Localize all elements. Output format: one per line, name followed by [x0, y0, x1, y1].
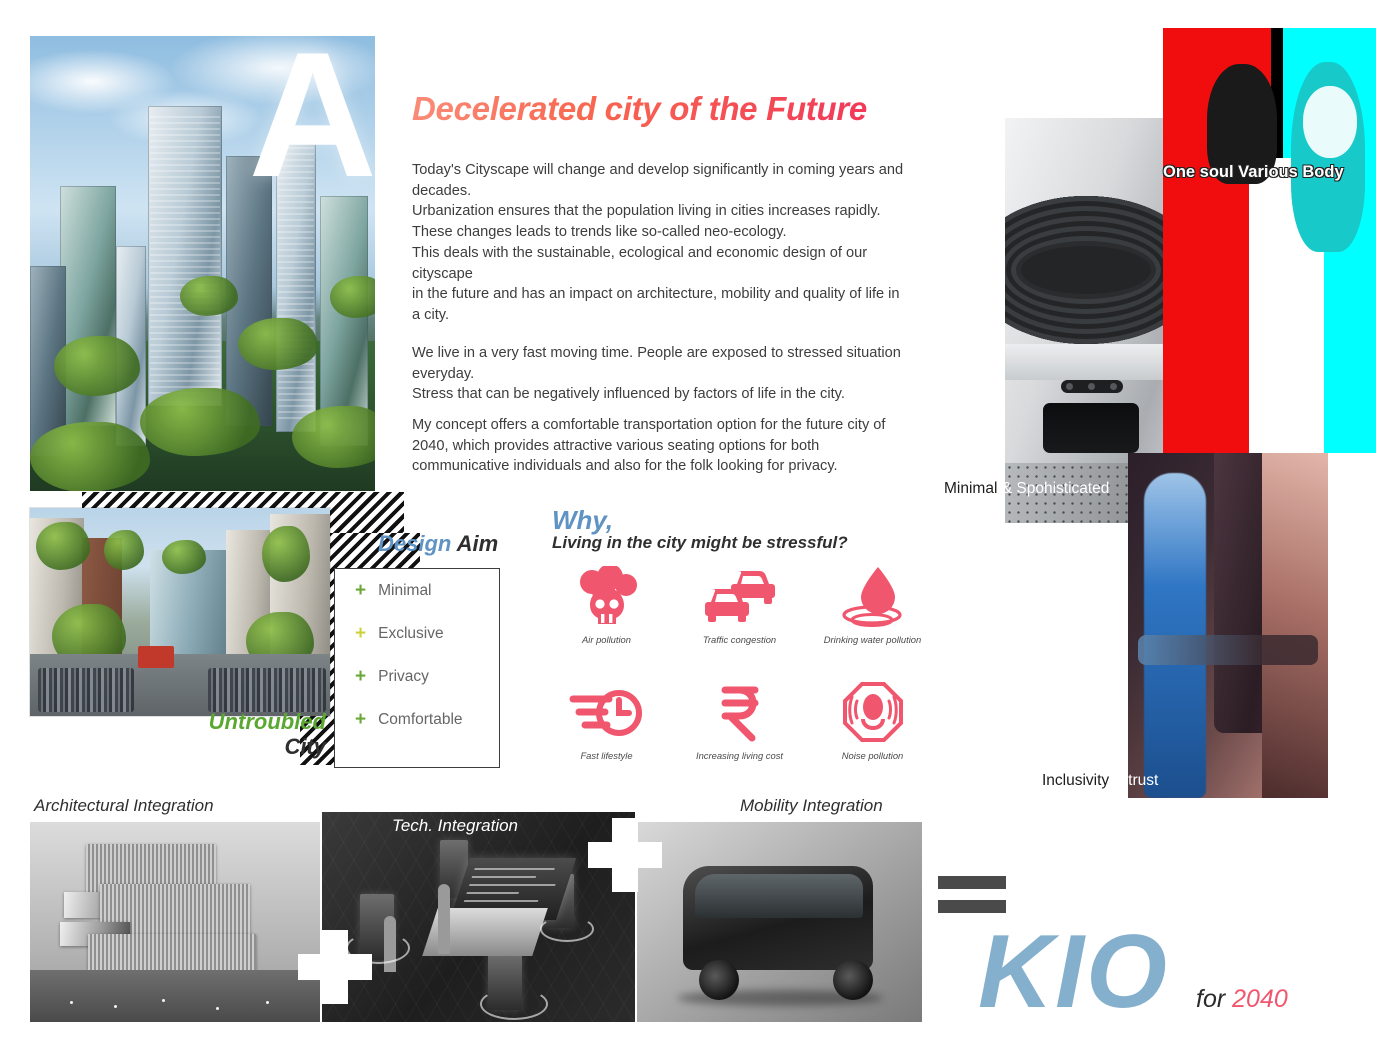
fast-lifestyle-icon: [567, 681, 647, 743]
pedestrian-crowd: [38, 668, 134, 712]
plus-symbol-2: [588, 818, 662, 892]
list-item-label: Privacy: [378, 668, 429, 686]
why-heading: Why,: [552, 505, 613, 536]
device-sensor-strip: [1061, 380, 1123, 393]
plus-icon: +: [355, 581, 366, 600]
vegetation: [104, 530, 144, 570]
plus-symbol-1: [298, 930, 372, 1004]
vegetation: [36, 522, 90, 570]
list-item[interactable]: + Minimal: [335, 569, 499, 612]
device-band: [1005, 344, 1175, 380]
minimal-sophisticated-label: Minimal & Spohisticated: [944, 480, 1109, 498]
vegetation: [30, 422, 150, 491]
untroubled-city-label: Untroubled City: [150, 710, 326, 759]
device-screen: [1043, 403, 1139, 453]
brand-name-kio: KIO: [978, 920, 1169, 1024]
list-item[interactable]: + Exclusive: [335, 612, 499, 655]
stress-factor-row: Fast lifestyle Increasing living cost: [540, 681, 940, 761]
icon-caption: Increasing living cost: [696, 750, 783, 761]
stress-factor-item[interactable]: Drinking water pollution: [806, 565, 939, 645]
stress-factor-row: Air pollution Traffic congestion: [540, 565, 940, 645]
equals-bar-bottom: [938, 900, 1006, 913]
stress-factor-item[interactable]: Air pollution: [540, 565, 673, 645]
body-paragraph-3: My concept offers a comfortable transpor…: [412, 415, 904, 477]
tech-integration-label: Tech. Integration: [392, 816, 518, 836]
plus-icon: +: [355, 624, 366, 643]
list-item-label: Minimal: [378, 582, 431, 600]
architectural-integration-label: Architectural Integration: [34, 796, 214, 816]
plus-icon: +: [355, 710, 366, 729]
traffic-congestion-icon: [701, 565, 779, 627]
vegetation: [140, 388, 260, 456]
inclusivity-trust-image: [1128, 453, 1328, 798]
glow-ring: [540, 916, 594, 942]
list-item-label: Exclusive: [378, 625, 443, 643]
pedestrian-crowd: [208, 668, 326, 712]
stress-factor-item[interactable]: Fast lifestyle: [540, 681, 673, 761]
page-title: Decelerated city of the Future: [412, 88, 882, 130]
vegetation: [238, 318, 318, 370]
person-figure: [438, 884, 450, 954]
list-item[interactable]: + Comfortable: [335, 698, 499, 741]
mobility-integration-label: Mobility Integration: [740, 796, 883, 816]
water-pollution-icon: [838, 565, 908, 627]
lawn: [30, 970, 320, 1022]
air-pollution-icon: [570, 565, 644, 627]
design-aim-title: Design Aim: [378, 531, 498, 557]
vegetation: [262, 526, 310, 582]
mobility-vehicle-image: [637, 822, 922, 1022]
letter-a-overlay: A: [248, 36, 371, 204]
stress-factor-item[interactable]: Traffic congestion: [673, 565, 806, 645]
list-item[interactable]: + Privacy: [335, 655, 499, 698]
glow-ring: [480, 988, 548, 1020]
figure-right-face: [1303, 86, 1357, 158]
icon-caption: Noise pollution: [842, 750, 904, 761]
icon-caption: Fast lifestyle: [580, 750, 632, 761]
stress-factor-item[interactable]: Increasing living cost: [673, 681, 806, 761]
window-texture: [150, 116, 220, 396]
design-aim-title-dark: Aim: [457, 531, 499, 556]
device-grille: [1005, 196, 1175, 344]
icon-caption: Traffic congestion: [703, 634, 776, 645]
sophisticated-word: & Spohisticated: [1002, 480, 1110, 497]
plus-icon: +: [355, 667, 366, 686]
white-notch: [1328, 453, 1376, 531]
body-paragraph-2: We live in a very fast moving time. Peop…: [412, 343, 904, 405]
for-word: for: [1196, 985, 1225, 1013]
one-soul-label: One soul Various Body: [1163, 163, 1344, 182]
icon-caption: Drinking water pollution: [824, 634, 921, 645]
vegetation: [330, 276, 375, 318]
hero-cityscape-image: A: [30, 36, 375, 491]
stress-factor-item[interactable]: Noise pollution: [806, 681, 939, 761]
icon-caption: Air pollution: [582, 634, 631, 645]
vehicle-wheel: [833, 960, 873, 1000]
for-year-label: for 2040: [1196, 985, 1288, 1014]
cross-bar: [1138, 635, 1318, 665]
vegetation: [292, 406, 375, 468]
noise-pollution-icon: [842, 681, 904, 743]
stress-factors-grid: Air pollution Traffic congestion: [540, 565, 940, 761]
skin-tone-field: [1262, 453, 1328, 798]
vehicle-wheel: [699, 960, 739, 1000]
year-value: 2040: [1232, 985, 1288, 1013]
inclusivity-word: Inclusivity: [1042, 772, 1109, 789]
city-word: City: [284, 734, 326, 759]
green-street-image: [30, 508, 330, 716]
equals-bar-top: [938, 876, 1006, 889]
design-aim-title-blue: Design: [378, 531, 451, 556]
trust-word: & trust: [1114, 772, 1159, 789]
living-cost-icon: [713, 681, 767, 743]
list-item-label: Comfortable: [378, 711, 462, 729]
why-subtitle: Living in the city might be stressful?: [552, 533, 848, 553]
minimal-word: Minimal: [944, 480, 997, 497]
vegetation: [54, 336, 140, 396]
design-aim-list-box: + Minimal + Exclusive + Privacy + Comfor…: [334, 568, 500, 768]
one-soul-various-body-image: [1163, 28, 1376, 458]
vehicle-windows: [695, 874, 863, 918]
vegetation: [162, 540, 206, 574]
body-paragraph-1: Today's Cityscape will change and develo…: [412, 160, 904, 326]
bus: [138, 646, 174, 668]
architecture-image: [30, 822, 320, 1022]
inclusivity-trust-label: Inclusivity & trust: [1042, 772, 1158, 790]
vegetation: [180, 276, 238, 316]
equals-symbol: [938, 876, 1006, 924]
untroubled-word: Untroubled: [209, 709, 326, 734]
